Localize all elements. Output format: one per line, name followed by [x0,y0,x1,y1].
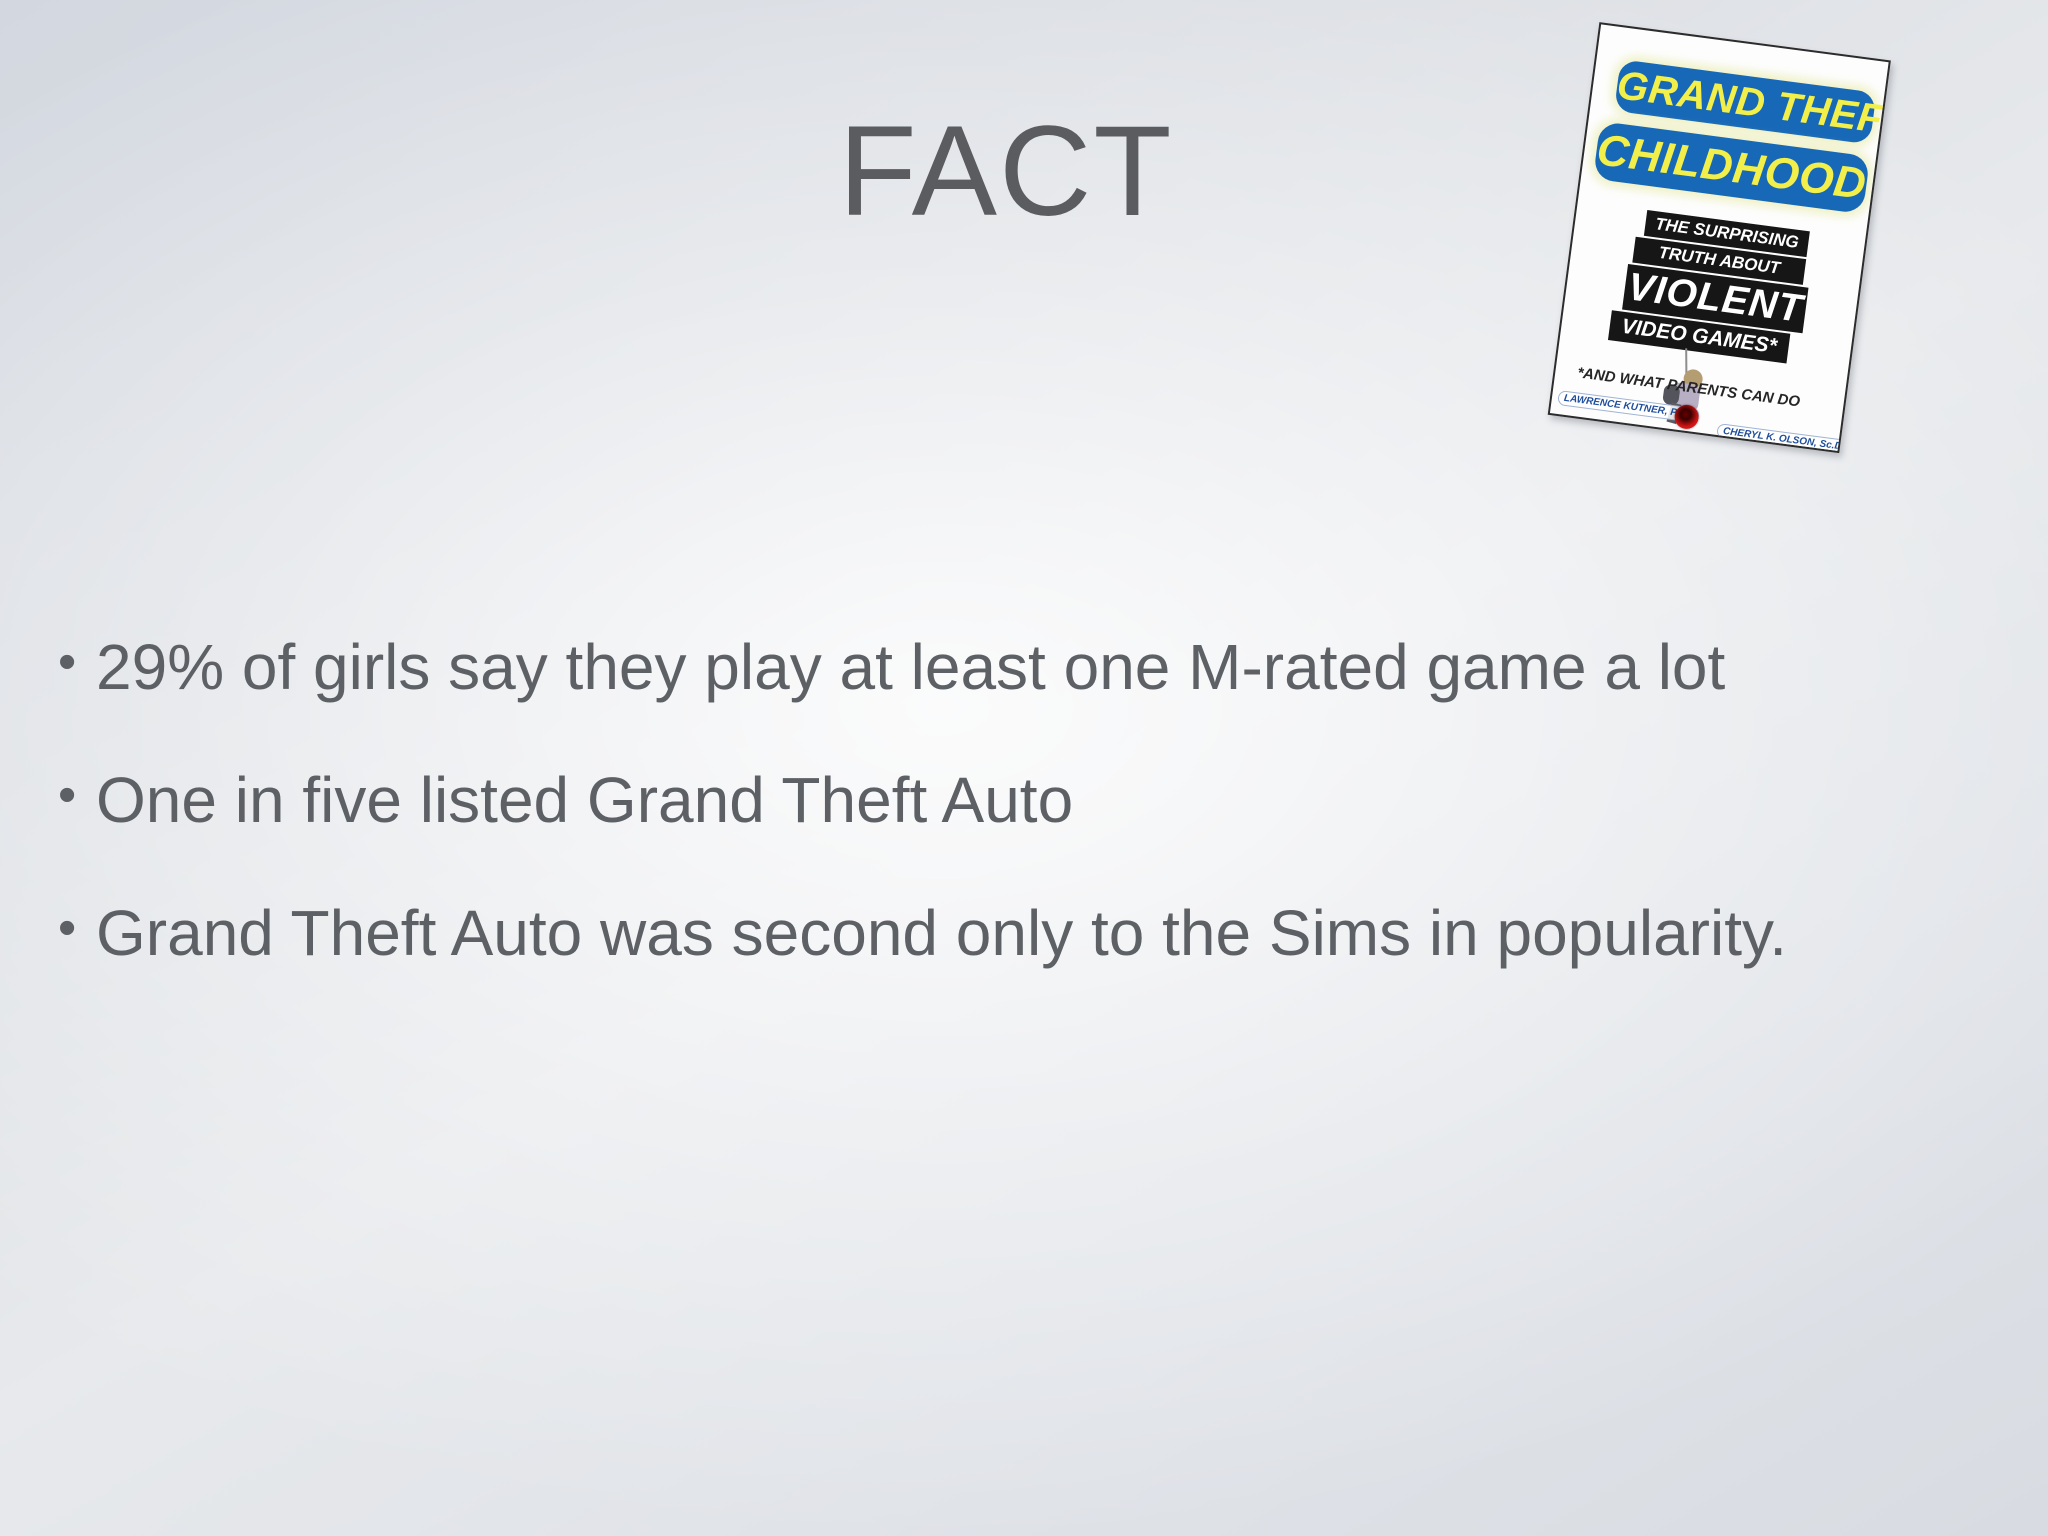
list-item-text: Grand Theft Auto was second only to the … [96,896,1886,971]
list-item: • One in five listed Grand Theft Auto [58,763,2018,838]
list-item-text: 29% of girls say they play at least one … [96,630,1981,705]
list-item: • 29% of girls say they play at least on… [58,630,2018,705]
bullet-marker-icon: • [58,630,96,695]
book-cover-image: GRAND THEFT CHILDHOOD THE SURPRISING TRU… [1547,22,1897,458]
book-cover-face: GRAND THEFT CHILDHOOD THE SURPRISING TRU… [1548,22,1891,453]
list-item-text: One in five listed Grand Theft Auto [96,763,1796,838]
presentation-slide: FACT GRAND THEFT CHILDHOOD THE SURPRISIN… [0,0,2048,1536]
book-author-2: CHERYL K. OLSON, Sc.D [1716,423,1848,453]
list-item: • Grand Theft Auto was second only to th… [58,896,2018,971]
bullet-marker-icon: • [58,896,96,961]
bullet-marker-icon: • [58,763,96,828]
bullet-list: • 29% of girls say they play at least on… [58,630,2018,1029]
